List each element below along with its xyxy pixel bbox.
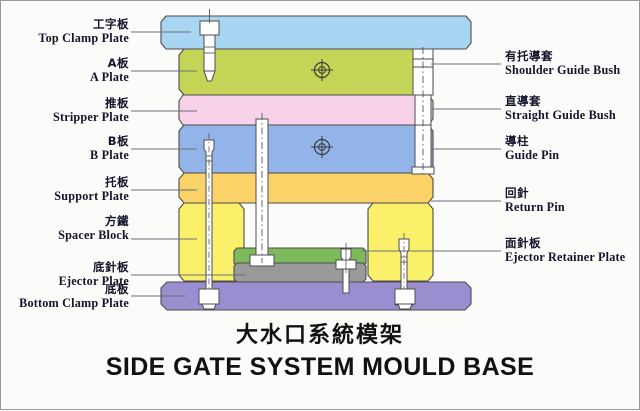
- label-cn: 托板: [1, 177, 129, 189]
- label-cn: 推板: [1, 98, 129, 110]
- label-en: Shoulder Guide Bush: [505, 64, 620, 76]
- label-cn: B板: [1, 136, 129, 148]
- label-cn: 面針板: [505, 238, 625, 250]
- diagram-title: 大水口系統模架 SIDE GATE SYSTEM MOULD BASE: [1, 317, 639, 382]
- label-en: Ejector Retainer Plate: [505, 251, 625, 263]
- label-bottom-clamp-plate: 底板 Bottom Clamp Plate: [1, 284, 129, 309]
- title-chinese: 大水口系統模架: [1, 317, 639, 349]
- label-cn: 方鐵: [1, 216, 129, 228]
- label-support-plate: 托板 Support Plate: [1, 177, 129, 202]
- label-cn: 底針板: [1, 262, 129, 274]
- plate-support-plate: [179, 173, 433, 203]
- label-en: Support Plate: [1, 190, 129, 202]
- label-en: Top Clamp Plate: [1, 32, 129, 44]
- diagram-canvas: 工字板 Top Clamp Plate A板 A Plate 推板 Stripp…: [0, 0, 640, 410]
- guide-pin-assembly: [412, 47, 434, 177]
- label-cn: 有托導套: [505, 51, 620, 63]
- label-en: Straight Guide Bush: [505, 109, 616, 121]
- label-straight-guide-bush: 直導套 Straight Guide Bush: [505, 96, 616, 121]
- title-english: SIDE GATE SYSTEM MOULD BASE: [1, 353, 639, 382]
- label-en: Return Pin: [505, 201, 565, 213]
- label-ejector-retainer-plate: 面針板 Ejector Retainer Plate: [505, 238, 625, 263]
- label-en: Spacer Block: [1, 229, 129, 241]
- label-en: A Plate: [1, 71, 129, 83]
- label-en: Bottom Clamp Plate: [1, 297, 129, 309]
- label-stripper-plate: 推板 Stripper Plate: [1, 98, 129, 123]
- plate-stripper-plate: [179, 95, 433, 125]
- label-cn: 直導套: [505, 96, 616, 108]
- label-cn: 工字板: [1, 19, 129, 31]
- label-shoulder-guide-bush: 有托導套 Shoulder Guide Bush: [505, 51, 620, 76]
- plate-b-plate: [179, 125, 433, 173]
- label-cn: 導柱: [505, 136, 559, 148]
- label-guide-pin: 導柱 Guide Pin: [505, 136, 559, 161]
- label-top-clamp-plate: 工字板 Top Clamp Plate: [1, 19, 129, 44]
- plate-a-plate: [179, 49, 433, 95]
- label-en: Guide Pin: [505, 149, 559, 161]
- label-cn: 底板: [1, 284, 129, 296]
- label-en: B Plate: [1, 149, 129, 161]
- label-cn: A板: [1, 58, 129, 70]
- label-spacer-block: 方鐵 Spacer Block: [1, 216, 129, 241]
- label-b-plate: B板 B Plate: [1, 136, 129, 161]
- label-cn: 回針: [505, 188, 565, 200]
- label-en: Stripper Plate: [1, 111, 129, 123]
- label-return-pin: 回針 Return Pin: [505, 188, 565, 213]
- label-a-plate: A板 A Plate: [1, 58, 129, 83]
